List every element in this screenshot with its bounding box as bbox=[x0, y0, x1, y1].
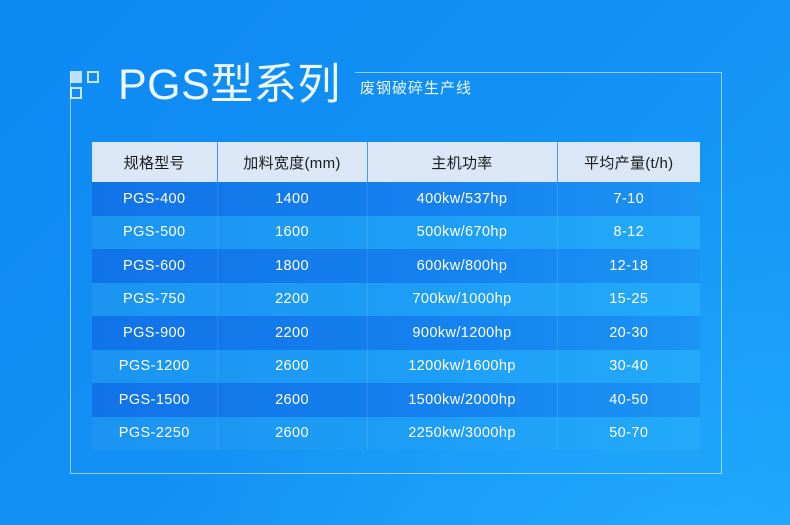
cell-power: 900kw/1200hp bbox=[367, 316, 557, 350]
table-row: PGS-500 1600 500kw/670hp 8-12 bbox=[92, 216, 700, 250]
cell-model: PGS-900 bbox=[92, 316, 217, 350]
square-outline-bottom-left-icon bbox=[70, 87, 82, 99]
cell-power: 500kw/670hp bbox=[367, 216, 557, 250]
cell-model: PGS-1500 bbox=[92, 383, 217, 417]
table-row: PGS-900 2200 900kw/1200hp 20-30 bbox=[92, 316, 700, 350]
cell-feed-width: 1400 bbox=[217, 182, 367, 216]
page-subtitle: 废钢破碎生产线 bbox=[360, 78, 472, 100]
cell-model: PGS-600 bbox=[92, 249, 217, 283]
column-header-model: 规格型号 bbox=[92, 142, 217, 182]
column-header-power: 主机功率 bbox=[367, 142, 557, 182]
cell-capacity: 12-18 bbox=[557, 249, 700, 283]
cell-capacity: 30-40 bbox=[557, 350, 700, 384]
page-title: PGS型系列 bbox=[118, 62, 341, 108]
title-block: PGS型系列 bbox=[70, 50, 341, 108]
table-row: PGS-600 1800 600kw/800hp 12-18 bbox=[92, 249, 700, 283]
cell-model: PGS-2250 bbox=[92, 417, 217, 451]
cell-power: 700kw/1000hp bbox=[367, 283, 557, 317]
table-row: PGS-1200 2600 1200kw/1600hp 30-40 bbox=[92, 350, 700, 384]
table-row: PGS-400 1400 400kw/537hp 7-10 bbox=[92, 182, 700, 216]
cell-model: PGS-400 bbox=[92, 182, 217, 216]
cell-power: 600kw/800hp bbox=[367, 249, 557, 283]
column-header-feed-width: 加料宽度(mm) bbox=[217, 142, 367, 182]
square-outline-top-right-icon bbox=[87, 71, 99, 83]
cell-capacity: 8-12 bbox=[557, 216, 700, 250]
cell-capacity: 7-10 bbox=[557, 182, 700, 216]
cell-power: 1200kw/1600hp bbox=[367, 350, 557, 384]
table-body: PGS-400 1400 400kw/537hp 7-10 PGS-500 16… bbox=[92, 182, 700, 450]
three-squares-icon bbox=[70, 71, 100, 99]
cell-feed-width: 1600 bbox=[217, 216, 367, 250]
cell-power: 1500kw/2000hp bbox=[367, 383, 557, 417]
column-header-capacity: 平均产量(t/h) bbox=[557, 142, 700, 182]
cell-model: PGS-500 bbox=[92, 216, 217, 250]
cell-feed-width: 2600 bbox=[217, 417, 367, 451]
cell-feed-width: 2200 bbox=[217, 283, 367, 317]
table-header-row: 规格型号 加料宽度(mm) 主机功率 平均产量(t/h) bbox=[92, 142, 700, 182]
cell-feed-width: 1800 bbox=[217, 249, 367, 283]
cell-capacity: 50-70 bbox=[557, 417, 700, 451]
cell-model: PGS-750 bbox=[92, 283, 217, 317]
cell-capacity: 15-25 bbox=[557, 283, 700, 317]
specification-table: 规格型号 加料宽度(mm) 主机功率 平均产量(t/h) PGS-400 140… bbox=[92, 142, 700, 450]
cell-power: 2250kw/3000hp bbox=[367, 417, 557, 451]
cell-model: PGS-1200 bbox=[92, 350, 217, 384]
cell-capacity: 40-50 bbox=[557, 383, 700, 417]
square-filled-icon bbox=[70, 71, 82, 83]
cell-feed-width: 2600 bbox=[217, 383, 367, 417]
table-row: PGS-1500 2600 1500kw/2000hp 40-50 bbox=[92, 383, 700, 417]
cell-power: 400kw/537hp bbox=[367, 182, 557, 216]
table-row: PGS-750 2200 700kw/1000hp 15-25 bbox=[92, 283, 700, 317]
cell-feed-width: 2200 bbox=[217, 316, 367, 350]
cell-capacity: 20-30 bbox=[557, 316, 700, 350]
table-row: PGS-2250 2600 2250kw/3000hp 50-70 bbox=[92, 417, 700, 451]
cell-feed-width: 2600 bbox=[217, 350, 367, 384]
